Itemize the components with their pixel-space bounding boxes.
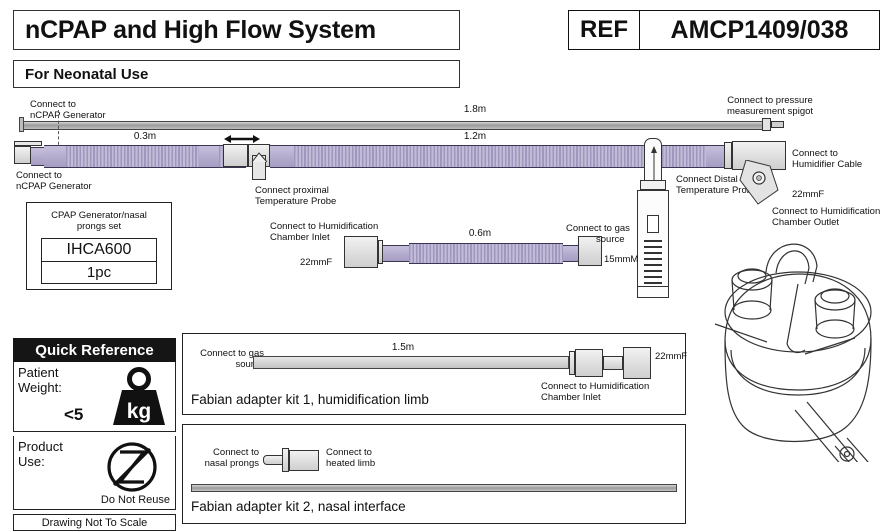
chamber-inlet-connector (344, 236, 378, 268)
generator-set-box: CPAP Generator/nasal prongs set IHCA600 … (26, 202, 172, 290)
kit2-prongs-label: Connect to nasal prongs (189, 447, 259, 469)
flow-direction-arrow-icon (650, 146, 658, 182)
kit2-caption: Fabian adapter kit 2, nasal interface (191, 499, 406, 514)
cable-spigot-tip (771, 121, 784, 128)
humidification-chamber-illustration (695, 232, 891, 462)
gas-source-label: Connect to gas source (566, 223, 656, 245)
adapter-kit-2-panel: Connect to nasal prongs Connect to heate… (182, 424, 686, 524)
left-smooth-tube (44, 145, 66, 168)
patient-weight-value: <5 (64, 405, 83, 425)
generator-qty-cell: 1pc (41, 262, 157, 284)
left-end-connector (14, 146, 31, 164)
left-connector-label: Connect to nCPAP Generator (16, 170, 126, 192)
proximal-probe-arrow-icon (250, 150, 270, 164)
kit1-bridge (603, 356, 623, 370)
kit2-heated-limb-bar (191, 484, 677, 492)
kit2-connector-body (289, 450, 319, 471)
weight-kg-icon: kg (108, 366, 170, 428)
reference-number-box: REF AMCP1409/038 (568, 10, 880, 50)
cable-leader-line (58, 110, 59, 150)
quick-reference-heading: Quick Reference (13, 338, 176, 362)
left-tube-collar (31, 147, 44, 166)
proximal-connector-body (223, 144, 248, 167)
chamber-limb-corrugated (409, 243, 563, 264)
kit1-length: 1.5m (343, 342, 463, 353)
kit1-caption: Fabian adapter kit 1, humidification lim… (191, 392, 429, 407)
chamber-limb-length: 0.6m (450, 228, 510, 239)
cable-left-end (19, 117, 24, 132)
long-segment-length: 1.2m (440, 131, 510, 142)
pressure-spigot-label: Connect to pressure measurement spigot (710, 95, 830, 117)
outlet-port-size: 22mmF (792, 189, 852, 200)
patient-weight-row: Patient Weight: <5 kg (13, 362, 176, 432)
kit1-connector-a (575, 349, 603, 377)
neonatal-use-box: For Neonatal Use (13, 60, 460, 88)
drawing-scale-note: Drawing Not To Scale (13, 514, 176, 531)
tube-segment-1-2m (294, 145, 647, 168)
tube-segment-distal (662, 145, 706, 168)
chamber-outlet-port-icon (738, 160, 790, 210)
proximal-probe-label: Connect proximal Temperature Probe (255, 185, 385, 207)
svg-text:kg: kg (127, 400, 152, 423)
short-segment-length: 0.3m (110, 131, 180, 142)
quick-reference-panel: Quick Reference Patient Weight: <5 kg Pr… (13, 338, 176, 524)
kit2-flange (282, 448, 289, 472)
tube-smooth-distal (706, 145, 724, 168)
gas-source-size: 15mmM (604, 254, 664, 265)
kit1-connector-b (623, 347, 651, 379)
do-not-reuse-caption: Do Not Reuse (101, 494, 170, 506)
generator-set-caption: CPAP Generator/nasal prongs set (27, 203, 171, 232)
prong-base (637, 286, 669, 298)
product-title-box: nCPAP and High Flow System (13, 10, 460, 50)
neonatal-use-label: For Neonatal Use (25, 66, 148, 83)
chamber-limb-smooth-left (383, 245, 409, 262)
ref-value: AMCP1409/038 (640, 11, 879, 49)
adapter-kit-1-panel: Connect to gas source 1.5m 22mmF Connect… (182, 333, 686, 415)
cable-generator-label: Connect to nCPAP Generator (30, 99, 160, 121)
kit1-tube (253, 356, 569, 369)
humidifier-cable-label: Connect to Humidifier Cable (792, 148, 888, 170)
kit1-inlet-label: Connect to Humidification Chamber Inlet (541, 381, 681, 403)
ref-label: REF (569, 11, 640, 49)
length-adjust-arrow-icon (224, 133, 260, 145)
product-use-row: Product Use: Do Not Reuse (13, 436, 176, 510)
cable-spigot-connector (762, 118, 771, 131)
kit1-port-size: 22mmF (655, 351, 687, 362)
cable-length-label: 1.8m (430, 104, 520, 115)
pressure-cable (22, 121, 762, 130)
chamber-outlet-label: Connect to Humidification Chamber Outlet (772, 206, 890, 228)
tube-smooth-mid-a (199, 145, 219, 168)
kit2-heated-label: Connect to heated limb (326, 447, 436, 469)
generator-code-cell: IHCA600 (41, 238, 157, 262)
do-not-reuse-icon (105, 440, 159, 494)
distal-cuff-ring (724, 142, 732, 169)
page-title: nCPAP and High Flow System (25, 16, 376, 45)
tube-smooth-mid-b (270, 145, 294, 168)
prong-collar (640, 180, 666, 190)
chamber-inlet-size: 22mmF (300, 257, 350, 268)
